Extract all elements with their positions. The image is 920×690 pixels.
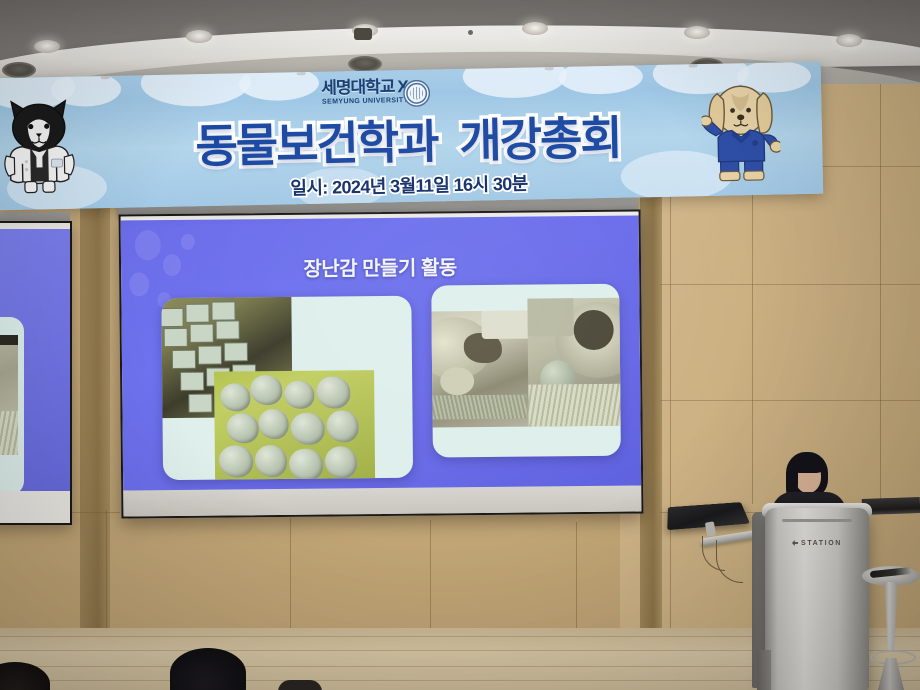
secondary-projection-screen xyxy=(0,221,72,525)
screen-blank-area xyxy=(123,486,641,517)
dog-lying-with-toy-photo xyxy=(431,311,530,428)
dog-ear-dark xyxy=(573,310,613,350)
wall-seam xyxy=(660,284,920,285)
secondary-slide-photo xyxy=(0,339,18,455)
floor-background xyxy=(527,298,573,337)
ceiling-projector-mount xyxy=(354,28,372,40)
podium xyxy=(765,508,869,690)
downlight-1 xyxy=(34,40,60,53)
dog-chewing-ball-photo xyxy=(527,298,621,427)
secondary-slide xyxy=(0,229,70,491)
downlight-2 xyxy=(186,30,212,43)
wall-seam xyxy=(290,518,291,642)
chew-mat-texture xyxy=(432,395,526,420)
podium-brand-text: STATION xyxy=(801,540,842,547)
wall-seam xyxy=(430,520,431,642)
university-name-kr: 세명대학교 xyxy=(321,77,395,97)
stool xyxy=(862,566,920,690)
stool-post xyxy=(881,582,901,652)
ceiling-vent-1 xyxy=(2,62,36,78)
podium-brand-mark-icon xyxy=(792,540,798,546)
rug-texture xyxy=(528,384,621,427)
banner-cloud xyxy=(559,62,644,95)
banner-title-part1: 동물보건학과 xyxy=(195,115,438,172)
audience-head xyxy=(170,648,246,690)
slide-title: 장난감 만들기 활동 xyxy=(121,250,639,284)
downlight-5 xyxy=(684,26,710,39)
projection-screen: 장난감 만들기 활동 xyxy=(119,210,644,519)
cat-mascot-icon xyxy=(1,95,77,201)
rug-texture xyxy=(0,411,18,455)
dog-paw xyxy=(440,367,474,395)
wall-seam xyxy=(106,510,107,640)
slide-decor-blob xyxy=(181,234,195,250)
event-banner: 세명대학교X SEMYUNG UNIVERSITY 동물보건학과개강총회 일시:… xyxy=(0,62,823,211)
wall-seam xyxy=(576,522,577,642)
wall-seam xyxy=(880,84,881,504)
downlight-4 xyxy=(522,22,548,35)
background-wall-strip xyxy=(481,311,530,339)
ceiling-fixture-dot xyxy=(468,30,473,35)
university-logo-lockup: 세명대학교X SEMYUNG UNIVERSITY xyxy=(285,77,445,106)
banner-title-part2: 개강총회 xyxy=(459,112,621,167)
audience-shoulder xyxy=(278,680,322,690)
presentation-slide: 장난감 만들기 활동 xyxy=(121,216,642,493)
auditorium-photo: 장난감 만들기 활동 xyxy=(0,0,920,690)
wall-seam xyxy=(660,400,920,401)
handmade-toy-balls-photo xyxy=(214,370,375,480)
podium-leg xyxy=(757,650,771,690)
downlight-6 xyxy=(836,34,862,47)
dog-mascot-icon xyxy=(701,77,781,188)
dogs-playing-card xyxy=(431,284,621,458)
podium-seam xyxy=(782,519,852,522)
secondary-slide-card xyxy=(0,317,24,491)
materials-and-toys-card xyxy=(161,296,413,480)
podium-brand-label: STATION xyxy=(765,540,869,547)
secondary-photo-strip xyxy=(0,335,18,345)
